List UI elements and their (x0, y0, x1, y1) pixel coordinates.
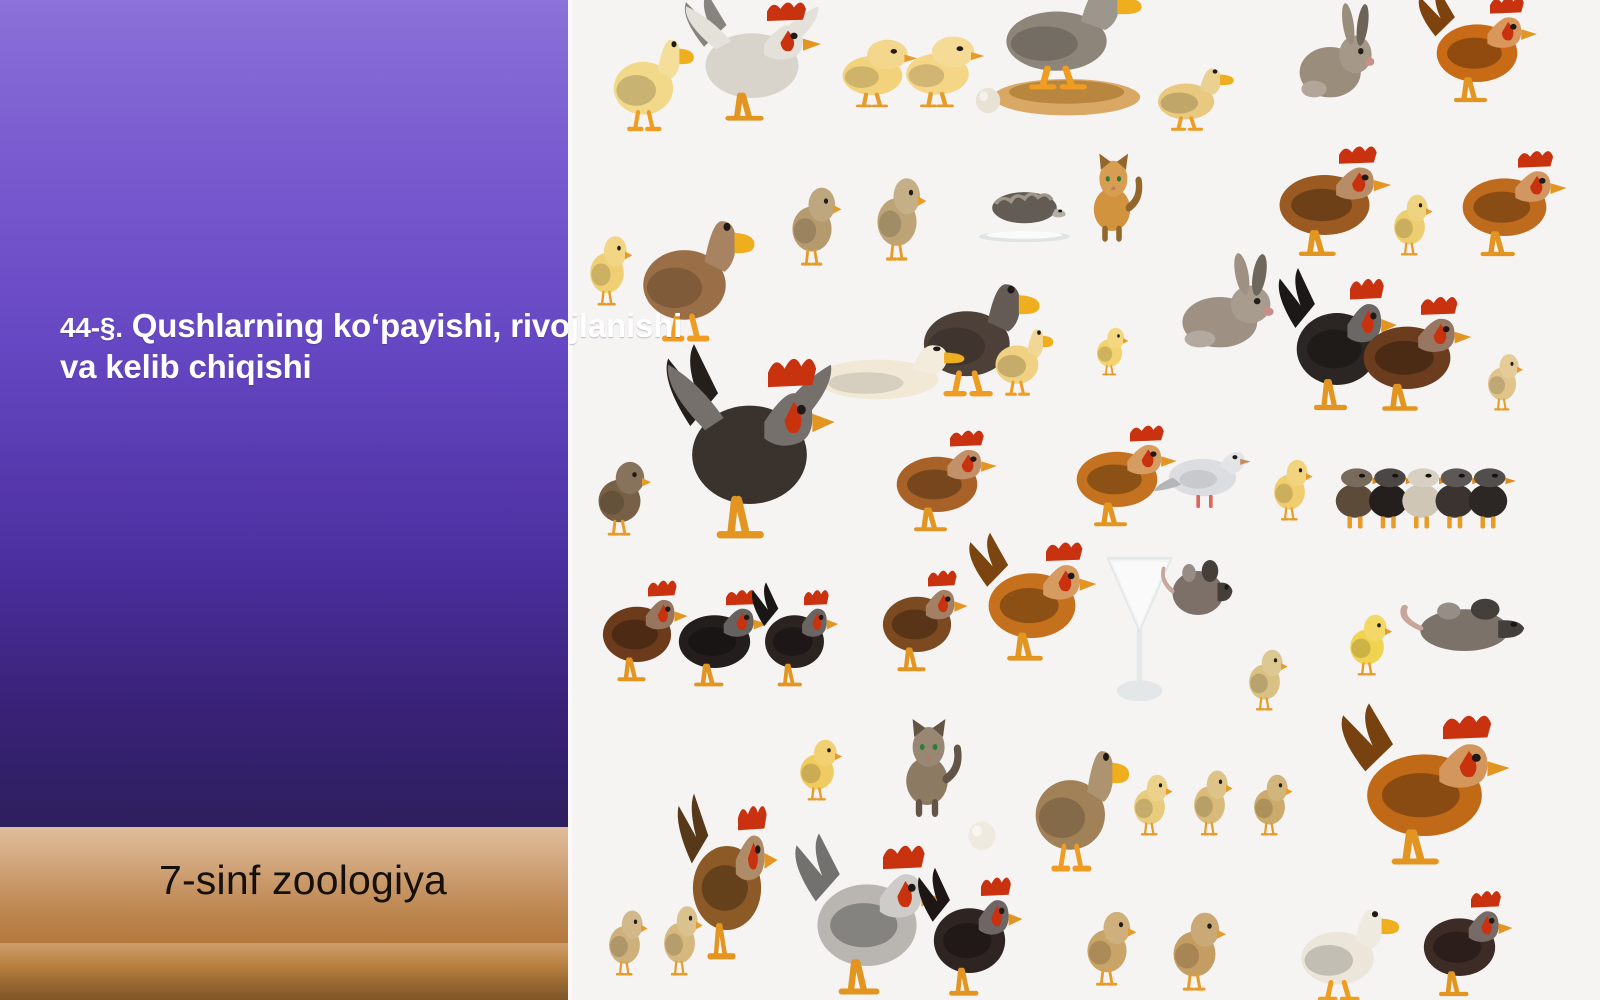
collage-egg-bottom (962, 818, 1002, 852)
collage-chick-bl2 (652, 895, 707, 975)
collage-saucer-dish (977, 222, 1072, 250)
collage-kitten-ginger (1077, 150, 1147, 240)
collage-rooster-wings-spread (677, 0, 827, 125)
collage-chick-bl1 (597, 900, 652, 975)
collage-chick-bb1 (1072, 900, 1142, 985)
slide-root: 44-§. Qushlarning ko‘payishi, rivojlanis… (0, 0, 1600, 1000)
collage-chick-tiny-yellow (1087, 320, 1132, 375)
collage-hen-brown-big (1252, 135, 1397, 260)
collage-chick-small-low (1237, 640, 1292, 710)
collage-chick-yellow-low (1337, 605, 1397, 675)
collage-rooster-black-big (657, 340, 842, 545)
panel-seam (568, 0, 572, 1000)
subtitle-block: 7-sinf zoologiya (0, 843, 568, 917)
collage-chick-yellow-r (1262, 450, 1317, 520)
collage-chick-yellow-mid (1382, 185, 1437, 255)
collage-chick-speckled-b (862, 165, 932, 260)
collage-rooster-orange-center (962, 530, 1102, 665)
left-purple-panel (0, 0, 568, 827)
collage-duck-white-bottom (1287, 890, 1397, 1000)
collage-chick-b1 (1122, 765, 1177, 835)
photo-collage-subjects (572, 0, 1600, 1000)
collage-chick-bb2 (1157, 900, 1232, 990)
collage-duckling-small (1147, 55, 1232, 130)
collage-rooster-big-bottomright (1332, 700, 1517, 870)
collage-chick-speckled-a (777, 175, 847, 265)
collage-hen-dark-bottomright (1402, 880, 1517, 1000)
collage-chick-dark-left (582, 450, 657, 535)
collage-chick-pair (827, 25, 957, 120)
collage-chick-yellow-b1 (787, 730, 847, 800)
collage-duck-brown-bottom (1022, 725, 1127, 870)
collage-rat-grey-right (1402, 575, 1532, 670)
collage-chick-b3 (1242, 765, 1297, 835)
collage-chick-row-group (1327, 440, 1502, 545)
collage-hen-brown-right2 (1337, 285, 1477, 415)
collage-hen-orange-right (1437, 140, 1572, 260)
collage-rooster-black-small (747, 580, 842, 690)
photo-collage-panel (572, 0, 1600, 1000)
collage-hen-speckled-mid (872, 420, 1002, 535)
collage-chick-b2 (1182, 760, 1237, 835)
collage-hen-brown-center (862, 560, 972, 675)
collage-rat-on-glass (1162, 535, 1237, 635)
gold-band-lower (0, 943, 568, 1000)
collage-rooster-orange-top (1412, 0, 1542, 106)
subtitle-text: 7-sinf zoologiya (121, 857, 447, 904)
collage-rabbit-sitting-grey (1167, 255, 1277, 360)
collage-dove-white (1152, 430, 1257, 515)
collage-egg-on-ground (970, 85, 1006, 115)
collage-rabbit-standing (1287, 5, 1377, 110)
collage-duckling-mid (987, 315, 1052, 395)
collage-chick-tiny-right (1477, 345, 1527, 410)
collage-kitten-tabby (887, 715, 967, 815)
collage-duck-brown-standing (627, 195, 752, 340)
collage-rooster-dark-bottom (912, 865, 1027, 1000)
